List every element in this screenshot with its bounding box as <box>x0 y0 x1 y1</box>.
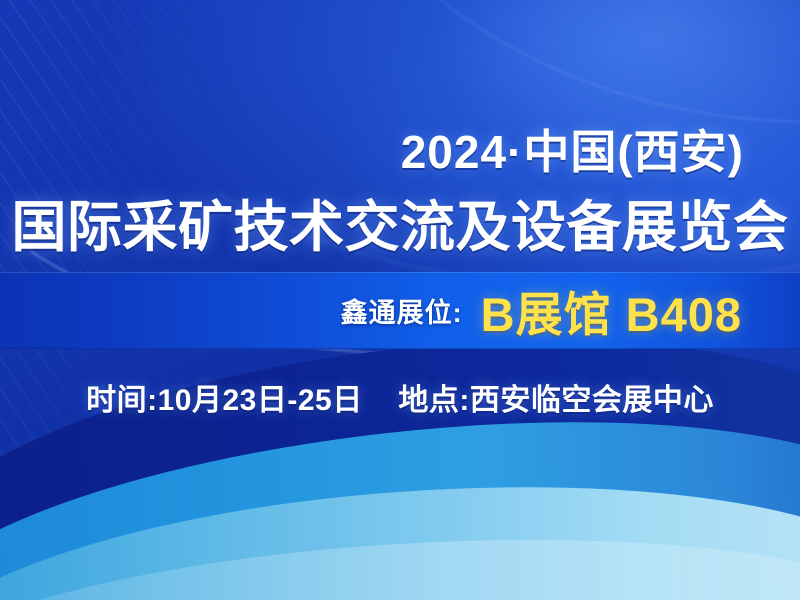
booth-info-band: 鑫通展位: B展馆 B408 <box>0 272 800 349</box>
poster-content: 2024·中国(西安) 国际采矿技术交流及设备展览会 鑫通展位: B展馆 B40… <box>0 0 800 600</box>
event-venue: 地点:西安临空会展中心 <box>398 384 714 417</box>
booth-label: 鑫通展位: <box>341 291 463 330</box>
event-meta-line: 时间:10月23日-25日 地点:西安临空会展中心 <box>86 375 714 419</box>
event-date: 时间:10月23日-25日 <box>86 384 363 417</box>
title-line-1: 2024·中国(西安) <box>401 116 744 182</box>
booth-number: B展馆 B408 <box>481 276 742 345</box>
event-poster: 2024·中国(西安) 国际采矿技术交流及设备展览会 鑫通展位: B展馆 B40… <box>0 0 800 600</box>
title-line-2: 国际采矿技术交流及设备展览会 <box>11 182 788 262</box>
